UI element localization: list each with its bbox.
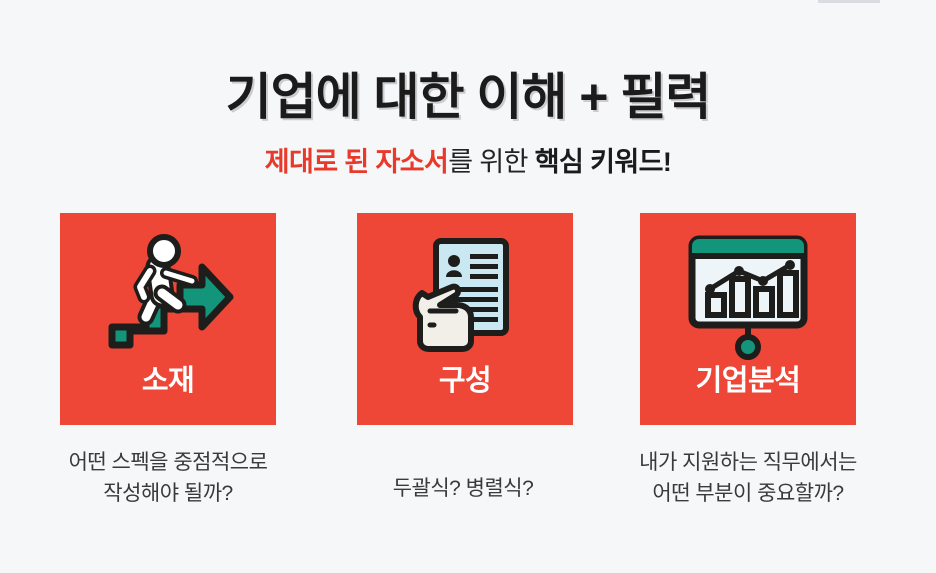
subtitle-highlight: 제대로 된 자소서: [265, 147, 448, 177]
top-divider-line: [818, 0, 880, 3]
caption-gieopbunseok: 내가 지원하는 직무에서는 어떤 부분이 중요할까?: [598, 447, 898, 509]
card-gieopbunseok[interactable]: 기업분석: [640, 213, 856, 425]
card-label: 소재: [142, 367, 194, 396]
caption-line-2: 작성해야 될까?: [18, 478, 318, 509]
caption-guseong: 두괄식? 병렬식?: [313, 473, 613, 504]
caption-sojae: 어떤 스펙을 중점적으로 작성해야 될까?: [18, 447, 318, 509]
card-row: 소재: [0, 213, 936, 425]
subtitle-middle: 를 위한: [448, 147, 535, 177]
card-guseong[interactable]: 구성: [357, 213, 573, 425]
card-sojae[interactable]: 소재: [60, 213, 276, 425]
infographic-page: 기업에 대한 이해 + 필력 제대로 된 자소서를 위한 핵심 키워드!: [0, 0, 936, 573]
caption-row: 어떤 스펙을 중점적으로 작성해야 될까? 두괄식? 병렬식? 내가 지원하는 …: [0, 447, 936, 547]
page-subtitle: 제대로 된 자소서를 위한 핵심 키워드!: [0, 140, 936, 179]
subtitle-strong: 핵심 키워드!: [535, 147, 672, 177]
caption-line-2: 어떤 부분이 중요할까?: [598, 478, 898, 509]
caption-line-1: 내가 지원하는 직무에서는: [598, 447, 898, 478]
page-title: 기업에 대한 이해 + 필력: [0, 57, 936, 129]
caption-line-1: 두괄식? 병렬식?: [313, 473, 613, 504]
card-label: 구성: [439, 367, 491, 396]
person-climbing-stairs-arrow-icon: [98, 233, 238, 361]
hand-holding-resume-icon: [400, 233, 530, 361]
presentation-chart-board-icon: [680, 233, 816, 361]
caption-line-1: 어떤 스펙을 중점적으로: [18, 447, 318, 478]
card-label: 기업분석: [696, 367, 801, 396]
